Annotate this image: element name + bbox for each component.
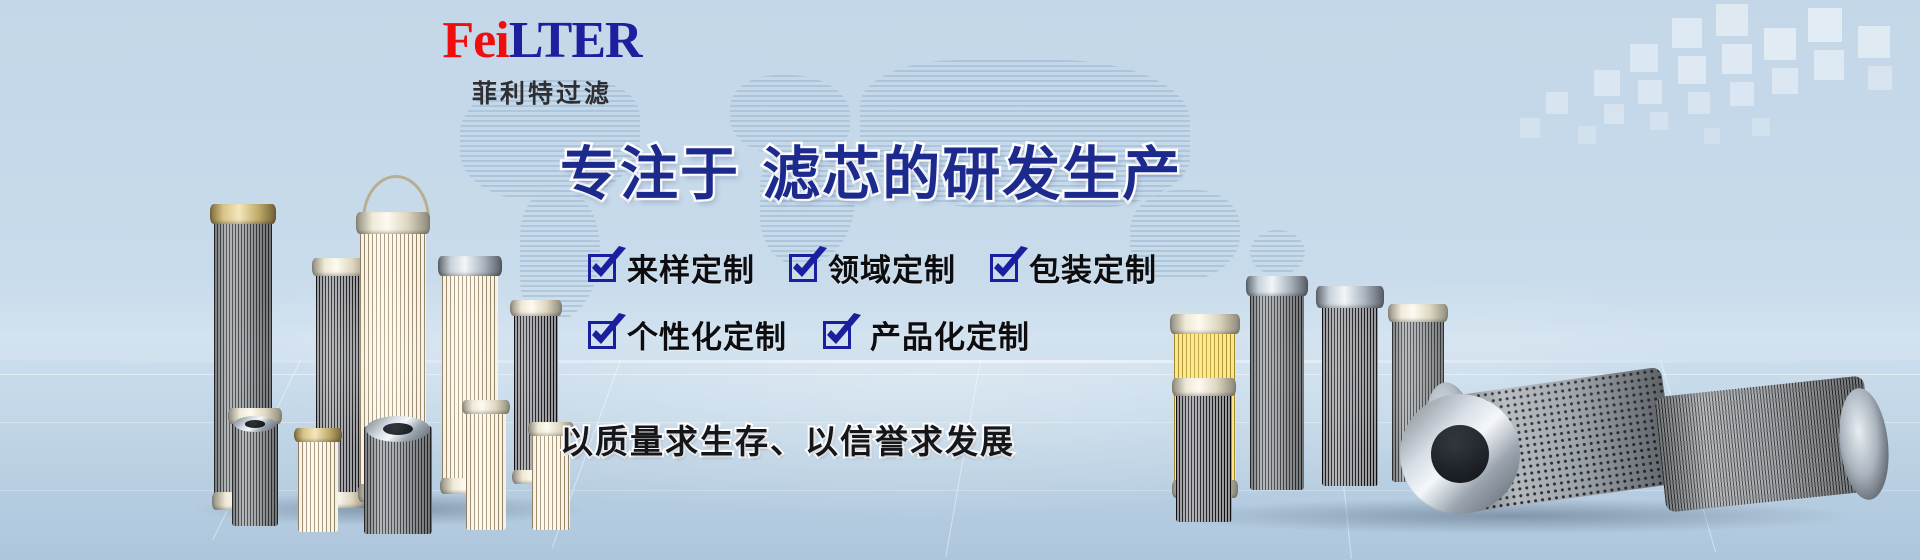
feature-row: 个性化定制 产品化定制 — [588, 312, 1208, 357]
check-square-icon — [588, 254, 616, 282]
headline-text: 专注于 滤芯的研发生产 — [560, 143, 1182, 205]
check-square-icon — [588, 321, 616, 349]
feature-label: 包装定制 — [1029, 245, 1157, 290]
logo-word-primary: Fei — [442, 12, 508, 69]
feature-item-lingyu[interactable]: 领域定制 — [789, 245, 956, 290]
feature-label: 个性化定制 — [627, 312, 787, 357]
feature-label: 领域定制 — [828, 245, 956, 290]
slogan-text: 以质量求生存、以信誉求发展 — [560, 415, 1015, 463]
logo-wordmark: FeiLTER — [392, 14, 692, 68]
feature-item-laiyang[interactable]: 来样定制 — [588, 245, 755, 290]
feature-label: 产品化定制 — [870, 312, 1030, 357]
feature-item-gexinghua[interactable]: 个性化定制 — [588, 312, 787, 357]
check-square-icon — [990, 254, 1018, 282]
feature-row: 来样定制 领域定制 包装定制 — [588, 245, 1208, 290]
promo-banner: FeiLTER 菲利特过滤 专注于 滤芯的研发生产 来样定制 领域定制 — [0, 0, 1920, 560]
product-group-left — [180, 100, 600, 560]
feature-item-baozhuang[interactable]: 包装定制 — [990, 245, 1157, 290]
logo-chinese-name: 菲利特过滤 — [392, 74, 692, 110]
check-square-icon — [789, 254, 817, 282]
brand-logo[interactable]: FeiLTER 菲利特过滤 — [392, 14, 692, 110]
feature-list: 来样定制 领域定制 包装定制 个性化定制 — [588, 245, 1208, 379]
logo-word-secondary: LTER — [509, 12, 642, 69]
feature-item-chanpinhua[interactable]: 产品化定制 — [823, 312, 1030, 357]
feature-label: 来样定制 — [627, 245, 755, 290]
product-group-right — [1140, 140, 1920, 560]
check-square-icon — [823, 321, 851, 349]
